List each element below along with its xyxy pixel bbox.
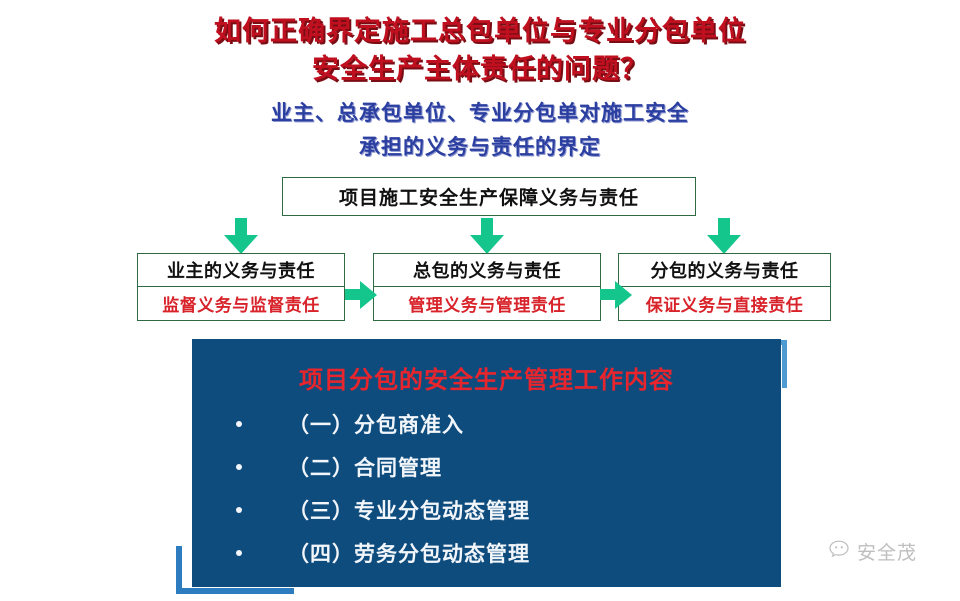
list-item: （二）合同管理 bbox=[192, 445, 781, 488]
flow-box-subcontractor: 分包的义务与责任 保证义务与直接责任 bbox=[618, 253, 831, 321]
flow-box-general-contractor-duty: 管理义务与管理责任 bbox=[374, 287, 600, 320]
arrow-head bbox=[707, 235, 741, 254]
flow-box-owner: 业主的义务与责任 监督义务与监督责任 bbox=[137, 253, 345, 321]
list-item-label: （四）劳务分包动态管理 bbox=[288, 538, 530, 568]
list-item: （一）分包商准入 bbox=[192, 402, 781, 445]
flow-box-top: 项目施工安全生产保障义务与责任 bbox=[282, 177, 696, 216]
arrow-head bbox=[615, 281, 632, 309]
slide-canvas: 如何正确界定施工总包单位与专业分包单位 安全生产主体责任的问题？ 业主、总承包单… bbox=[0, 0, 960, 601]
flow-box-subcontractor-duty: 保证义务与直接责任 bbox=[619, 287, 830, 320]
list-item-label: （二）合同管理 bbox=[288, 452, 442, 482]
arrow-down-icon-sub bbox=[707, 218, 741, 254]
arrow-head bbox=[470, 235, 504, 254]
chat-smiley-icon bbox=[828, 539, 850, 564]
bullet-icon bbox=[236, 507, 242, 513]
arrow-right-icon-general-to-sub bbox=[600, 281, 632, 309]
page-subtitle-line-1: 业主、总承包单位、专业分包单对施工安全 bbox=[0, 100, 960, 128]
content-panel-list: （一）分包商准入 （二）合同管理 （三）专业分包动态管理 （四）劳务分包动态管理 bbox=[192, 402, 781, 574]
arrow-down-icon-general bbox=[470, 218, 504, 254]
arrow-head bbox=[360, 281, 377, 309]
content-panel-heading: 项目分包的安全生产管理工作内容 bbox=[192, 360, 781, 395]
list-item-label: （三）专业分包动态管理 bbox=[288, 495, 530, 525]
list-item: （四）劳务分包动态管理 bbox=[192, 531, 781, 574]
watermark-label: 安全茂 bbox=[857, 538, 917, 565]
bullet-icon bbox=[236, 550, 242, 556]
content-panel: 项目分包的安全生产管理工作内容 （一）分包商准入 （二）合同管理 （三）专业分包… bbox=[192, 339, 781, 587]
arrow-head bbox=[224, 235, 258, 254]
page-title-line-1: 如何正确界定施工总包单位与专业分包单位 bbox=[0, 14, 960, 48]
watermark: 安全茂 bbox=[828, 538, 917, 565]
flow-box-owner-duty: 监督义务与监督责任 bbox=[138, 287, 344, 320]
arrow-down-icon-owner bbox=[224, 218, 258, 254]
page-subtitle-line-2: 承担的义务与责任的界定 bbox=[0, 134, 960, 162]
page-title-line-2: 安全生产主体责任的问题？ bbox=[0, 52, 960, 86]
flow-box-owner-title: 业主的义务与责任 bbox=[138, 254, 344, 287]
list-item-label: （一）分包商准入 bbox=[288, 409, 464, 439]
arrow-right-icon-owner-to-general bbox=[345, 281, 377, 309]
flow-box-general-contractor: 总包的义务与责任 管理义务与管理责任 bbox=[373, 253, 601, 321]
flow-box-subcontractor-title: 分包的义务与责任 bbox=[619, 254, 830, 287]
list-item: （三）专业分包动态管理 bbox=[192, 488, 781, 531]
flow-box-general-contractor-title: 总包的义务与责任 bbox=[374, 254, 600, 287]
bullet-icon bbox=[236, 421, 242, 427]
bullet-icon bbox=[236, 464, 242, 470]
